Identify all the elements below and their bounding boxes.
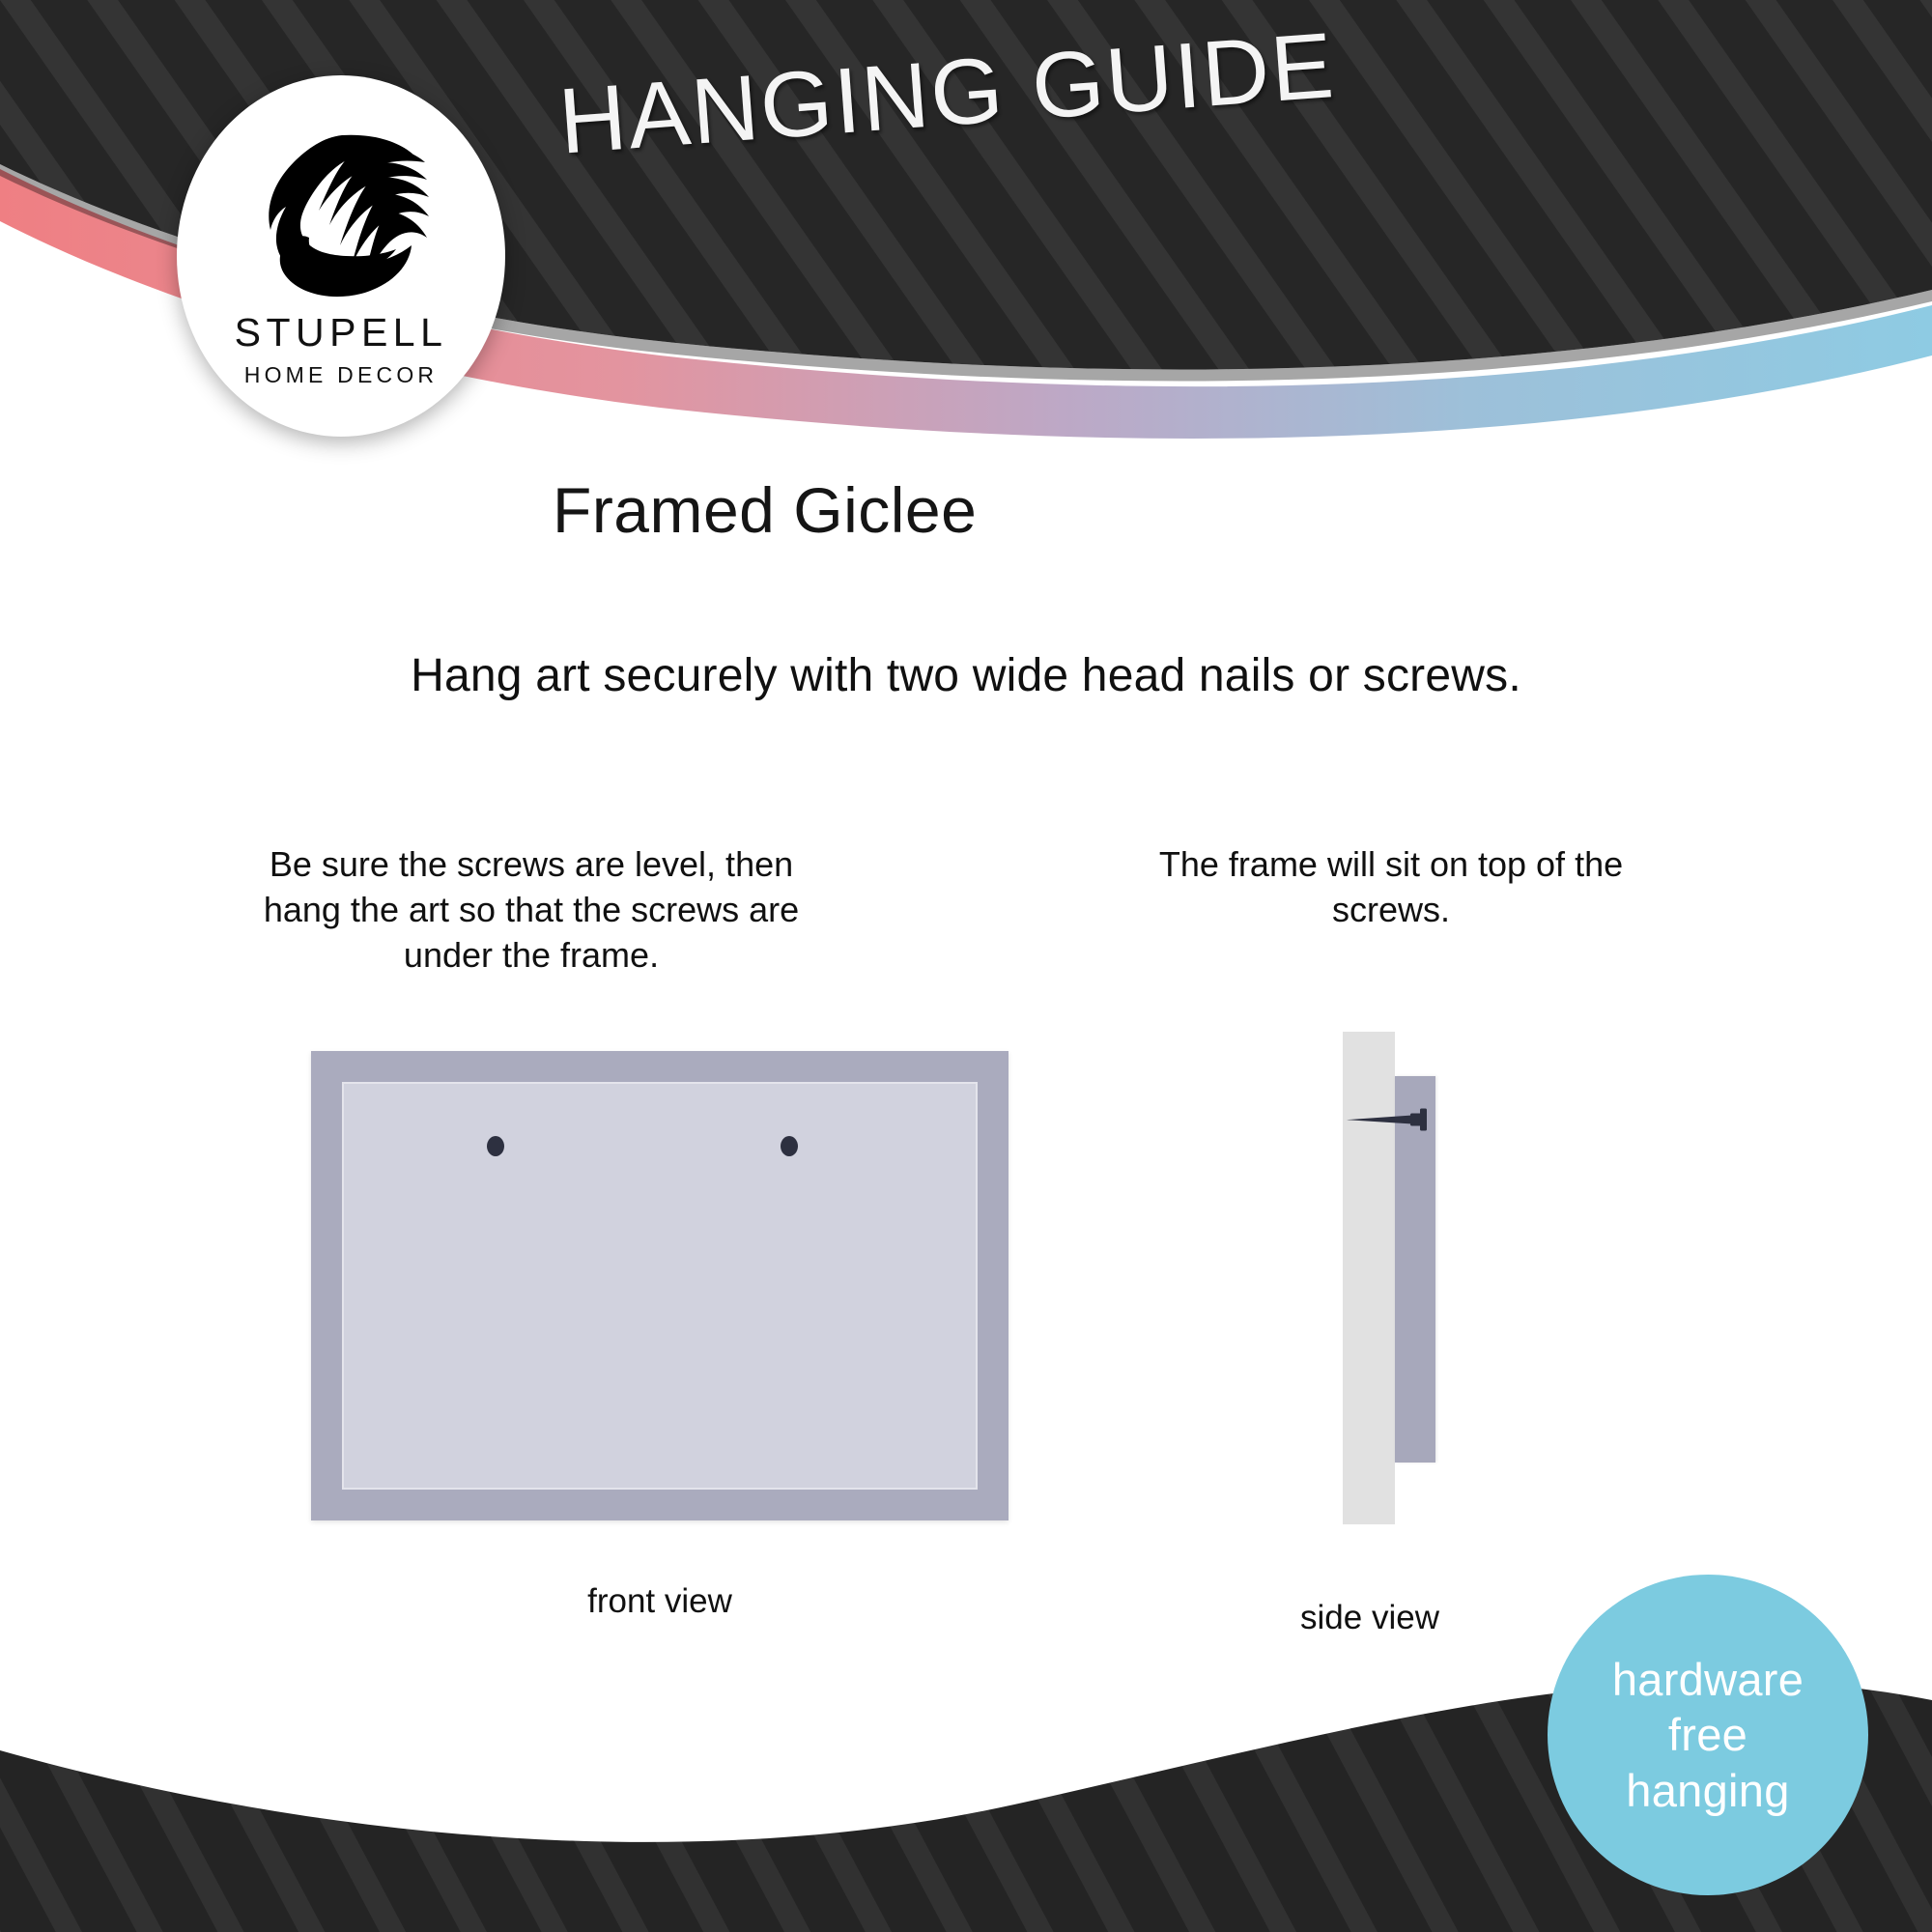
front-view-label: front view xyxy=(370,1582,950,1621)
stupell-swoosh-s-logo-icon xyxy=(249,114,433,307)
badge-line-1: hardware xyxy=(1612,1652,1804,1707)
side-view-caption: The frame will sit on top of the screws. xyxy=(1121,842,1662,933)
hardware-free-hanging-badge: hardware free hanging xyxy=(1548,1575,1868,1895)
side-view-frame-bar xyxy=(1395,1076,1435,1463)
side-view-diagram xyxy=(1343,1032,1555,1534)
screw-hole-left-icon xyxy=(487,1136,504,1156)
badge-line-2: free xyxy=(1668,1707,1747,1762)
product-type-label: Framed Giclee xyxy=(553,473,977,547)
side-view-label: side view xyxy=(1225,1599,1515,1637)
brand-wordmark: STUPELL xyxy=(235,313,448,353)
brand-subwordmark: HOME DECOR xyxy=(244,364,438,386)
badge-line-3: hanging xyxy=(1626,1763,1789,1818)
front-view-frame-diagram xyxy=(311,1051,1009,1520)
screw-hole-right-icon xyxy=(781,1136,798,1156)
nail-icon xyxy=(1345,1105,1436,1134)
brand-logo-badge: STUPELL HOME DECOR xyxy=(177,75,505,437)
main-instruction-text: Hang art securely with two wide head nai… xyxy=(0,649,1932,702)
page-title: HANGING GUIDE xyxy=(555,13,1339,176)
hanging-guide-page: STUPELL HOME DECOR HANGING GUIDE Framed … xyxy=(0,0,1932,1932)
front-view-mat-area xyxy=(342,1082,978,1490)
front-view-caption: Be sure the screws are level, then hang … xyxy=(251,842,811,978)
